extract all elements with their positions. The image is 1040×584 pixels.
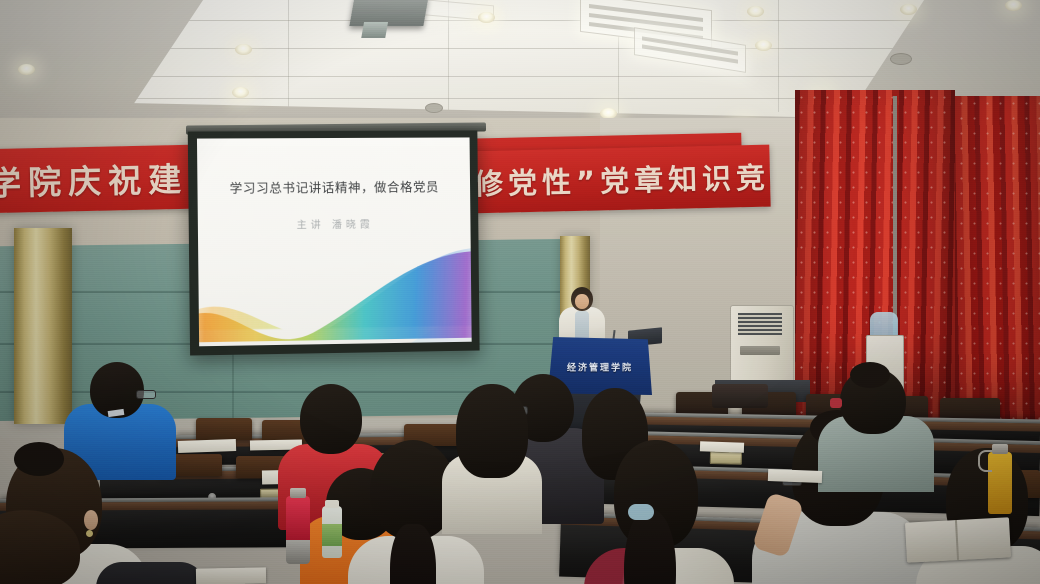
seat-mid-1[interactable]: [196, 418, 252, 440]
podium-sign-text: 经济管理学院: [548, 361, 652, 374]
slide-title: 学习习总书记讲话精神，做合格党员: [197, 176, 470, 197]
downlight-3: [478, 12, 495, 23]
downlight-2: [235, 44, 252, 55]
ponytail: [390, 524, 436, 584]
curtain-dot-pattern-right: [955, 96, 1040, 426]
red-curtain-right: [955, 96, 1040, 426]
head: [456, 384, 528, 478]
head: [300, 384, 362, 454]
water-bottle-label: [322, 524, 342, 546]
ac-control-panel[interactable]: [740, 346, 780, 355]
thermos-yellow-cap: [992, 444, 1008, 454]
projection-screen[interactable]: 学习习总书记讲话精神，做合格党员 主讲 潘晓霞: [188, 130, 480, 355]
thermos-yellow-handle: [978, 450, 992, 472]
thermos-pink-base: [286, 540, 310, 564]
projection-screen-surface: 学习习总书记讲话精神，做合格党员 主讲 潘晓霞: [197, 137, 472, 346]
slide-subtitle: 主讲 潘晓霞: [198, 215, 471, 233]
thermos-pink: [286, 496, 310, 544]
seat-number-plate: [710, 451, 742, 465]
water-bottle-cap: [325, 500, 339, 508]
ceiling-projector: [349, 0, 428, 26]
downlight-6: [232, 87, 249, 98]
paper-back-desk: [700, 441, 744, 453]
torso: [96, 562, 206, 584]
red-banner-right-segment: 修党性”党章知识竞赛: [469, 145, 770, 214]
ceiling-air-vent: [425, 103, 443, 113]
hair-bun: [850, 362, 890, 388]
downlight-10: [755, 40, 772, 51]
ceiling-speaker-grille: [890, 53, 912, 65]
banner-text-right: 修党性”党章知识竞赛: [474, 154, 771, 203]
lecture-hall-photo: 学院庆祝建党 修党性”党章知识竞赛 学习习总书记讲话精神，做合格党员 主讲 潘晓…: [0, 0, 1040, 584]
hair-clip-icon: [830, 398, 842, 408]
notebook-front-center: [196, 567, 266, 584]
downlight-1: [18, 64, 35, 75]
ear: [84, 510, 98, 530]
hair-scrunchie: [628, 504, 654, 520]
ac-grille-icon: [738, 313, 782, 335]
bag-on-back-desk: [712, 384, 768, 408]
earring-icon: [86, 530, 93, 537]
hair-bun: [14, 442, 64, 476]
speaker-face: [575, 294, 589, 309]
paper-right-desk: [768, 469, 822, 483]
papers-on-desk-backleft: [178, 439, 236, 453]
downlight-11: [1005, 0, 1022, 11]
gold-column-left: [14, 228, 72, 424]
downlight-4: [747, 6, 764, 17]
thermos-pink-cap: [290, 488, 306, 498]
eyeglasses-icon: [136, 390, 156, 399]
downlight-12: [900, 4, 917, 15]
